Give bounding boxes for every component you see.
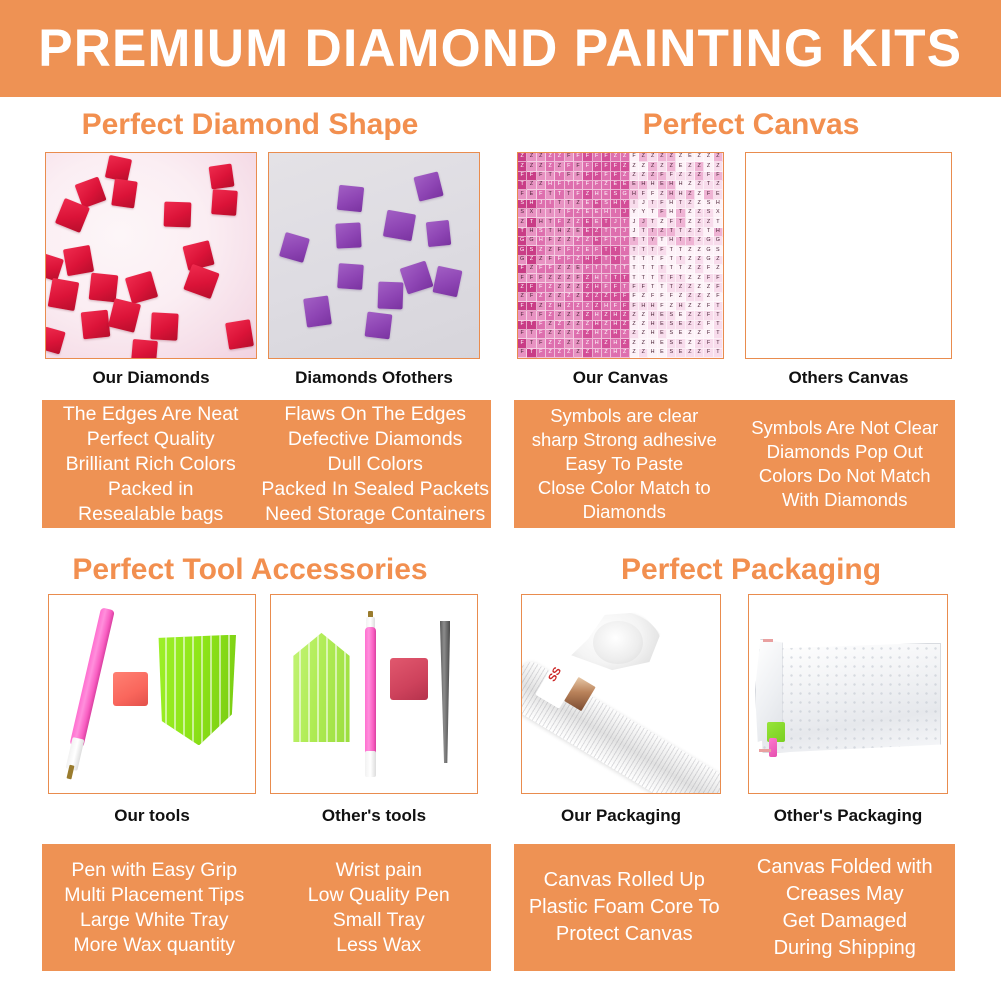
- symbol-cell: F: [630, 283, 639, 292]
- symbol-cell: Z: [583, 321, 592, 330]
- symbol-cell: H: [648, 302, 657, 311]
- symbol-cell: T: [527, 330, 536, 339]
- symbol-cell: Z: [695, 321, 704, 330]
- symbol-cell: J: [611, 218, 620, 227]
- symbol-cell: Z: [537, 256, 546, 265]
- symbol-cell: X: [527, 209, 536, 218]
- symbol-cell: Z: [574, 283, 583, 292]
- symbol-cell: F: [537, 321, 546, 330]
- symbol-cell: Z: [555, 339, 564, 348]
- benefit-line: Multi Placement Tips: [64, 883, 244, 908]
- symbol-cell: Z: [593, 228, 602, 237]
- symbol-cell: T: [611, 256, 620, 265]
- symbol-cell: F: [611, 172, 620, 181]
- benefits-box-canvas: Symbols are clear sharp Strong adhesive …: [514, 400, 955, 528]
- symbol-cell: Z: [714, 162, 723, 171]
- symbol-cell: Z: [546, 153, 555, 162]
- symbol-cell: Z: [639, 349, 648, 358]
- symbol-cell: T: [648, 200, 657, 209]
- symbol-cell: T: [565, 190, 574, 199]
- symbol-cell: H: [648, 330, 657, 339]
- symbol-cell: H: [611, 349, 620, 358]
- caption-our-diamonds: Our Diamonds: [45, 368, 257, 388]
- symbol-cell: E: [583, 200, 592, 209]
- symbol-cell: T: [648, 246, 657, 255]
- mailer-contents-pen: [769, 738, 777, 758]
- benefit-line: Canvas Folded with: [757, 854, 933, 881]
- symbol-cell: H: [611, 311, 620, 320]
- benefit-line: With Diamonds: [782, 488, 907, 512]
- symbol-cell: Z: [695, 190, 704, 199]
- benefits-col-others: Flaws On The Edges Defective Diamonds Du…: [259, 400, 491, 528]
- symbol-cell: E: [658, 311, 667, 320]
- symbol-cell: Z: [686, 172, 695, 181]
- symbol-cell: Z: [555, 265, 564, 274]
- benefits-col-others: Wrist pain Low Quality Pen Small Tray Le…: [267, 844, 492, 971]
- symbol-cell: Z: [537, 181, 546, 190]
- symbol-cell: F: [565, 162, 574, 171]
- symbol-cell: H: [593, 349, 602, 358]
- symbol-cell: I: [546, 200, 555, 209]
- header-banner: PREMIUM DIAMOND PAINTING KITS: [0, 0, 1001, 97]
- symbol-cell: H: [667, 181, 676, 190]
- symbol-cell: S: [667, 321, 676, 330]
- symbol-cell: Z: [630, 311, 639, 320]
- symbol-cell: H: [583, 256, 592, 265]
- symbol-cell: F: [667, 172, 676, 181]
- benefit-line: Symbols are clear: [550, 404, 698, 428]
- symbol-cell: Z: [695, 311, 704, 320]
- symbol-cell: T: [714, 330, 723, 339]
- symbol-cell: Z: [546, 330, 555, 339]
- symbol-cell: Z: [704, 162, 713, 171]
- symbol-cell: F: [518, 172, 527, 181]
- symbol-cell: T: [546, 172, 555, 181]
- symbol-cell: E: [593, 209, 602, 218]
- symbol-cell: H: [676, 181, 685, 190]
- symbol-cell: T: [555, 209, 564, 218]
- symbol-cell: Z: [639, 311, 648, 320]
- page-title: PREMIUM DIAMOND PAINTING KITS: [39, 18, 963, 79]
- symbol-cell: T: [602, 246, 611, 255]
- symbol-cell: Z: [574, 349, 583, 358]
- symbol-cell: F: [704, 349, 713, 358]
- symbol-cell: Z: [565, 311, 574, 320]
- symbol-cell: F: [574, 153, 583, 162]
- symbol-cell: T: [714, 349, 723, 358]
- symbol-cell: T: [648, 265, 657, 274]
- symbol-cell: Z: [555, 293, 564, 302]
- symbol-cell: Z: [686, 265, 695, 274]
- photo-red-diamonds: [46, 153, 256, 358]
- symbol-cell: E: [658, 339, 667, 348]
- symbol-cell: Z: [667, 153, 676, 162]
- symbol-cell: S: [518, 200, 527, 209]
- benefit-line: Symbols Are Not Clear: [751, 416, 938, 440]
- symbol-cell: T: [621, 283, 630, 292]
- symbol-cell: Z: [695, 293, 704, 302]
- symbol-cell: Z: [583, 190, 592, 199]
- symbol-cell: F: [602, 283, 611, 292]
- symbol-cell: H: [593, 311, 602, 320]
- symbol-cell: T: [621, 274, 630, 283]
- symbol-cell: T: [676, 256, 685, 265]
- caption-our-tools: Our tools: [48, 806, 256, 826]
- symbol-cell: Z: [686, 274, 695, 283]
- symbol-grid: ZZZZZFFFFFZZFZZZZZEZZZZZZZZFFFFFFZZZZZZE…: [518, 153, 723, 358]
- symbol-cell: Z: [695, 153, 704, 162]
- symbol-cell: T: [714, 311, 723, 320]
- symbol-cell: H: [639, 302, 648, 311]
- symbol-cell: Z: [574, 339, 583, 348]
- benefit-line: Large White Tray: [80, 908, 228, 933]
- symbol-cell: Z: [611, 153, 620, 162]
- symbol-cell: Z: [555, 283, 564, 292]
- benefit-line: The Edges Are Neat: [63, 402, 239, 427]
- symbol-cell: T: [611, 237, 620, 246]
- symbol-cell: H: [667, 237, 676, 246]
- symbol-cell: Z: [714, 153, 723, 162]
- symbol-cell: Z: [676, 283, 685, 292]
- symbol-cell: T: [667, 228, 676, 237]
- symbol-cell: F: [555, 218, 564, 227]
- symbol-cell: Z: [546, 162, 555, 171]
- symbol-cell: T: [639, 237, 648, 246]
- symbol-cell: S: [537, 228, 546, 237]
- symbol-cell: T: [611, 274, 620, 283]
- symbol-cell: Z: [686, 339, 695, 348]
- symbol-cell: T: [630, 237, 639, 246]
- symbol-cell: Z: [555, 162, 564, 171]
- symbol-cell: H: [630, 190, 639, 199]
- symbol-cell: F: [639, 283, 648, 292]
- symbol-cell: S: [704, 209, 713, 218]
- tray-icon: [156, 635, 238, 746]
- symbol-cell: I: [546, 209, 555, 218]
- panel-our-packaging: SS-011: [521, 594, 721, 794]
- symbol-cell: F: [639, 190, 648, 199]
- symbol-cell: F: [537, 311, 546, 320]
- symbol-cell: Z: [695, 283, 704, 292]
- symbol-cell: F: [583, 265, 592, 274]
- symbol-cell: F: [518, 302, 527, 311]
- symbol-cell: T: [714, 218, 723, 227]
- benefit-line: Diamonds Pop Out: [767, 440, 923, 464]
- symbol-cell: S: [704, 200, 713, 209]
- symbol-cell: Z: [574, 321, 583, 330]
- symbol-cell: Z: [574, 209, 583, 218]
- symbol-cell: E: [583, 218, 592, 227]
- symbol-cell: Z: [695, 162, 704, 171]
- panel-others-canvas: [745, 152, 952, 359]
- symbol-cell: Z: [555, 311, 564, 320]
- symbol-cell: T: [630, 274, 639, 283]
- symbol-cell: T: [621, 218, 630, 227]
- symbol-cell: F: [574, 162, 583, 171]
- symbol-cell: T: [639, 246, 648, 255]
- symbol-cell: Z: [574, 311, 583, 320]
- symbol-cell: F: [565, 256, 574, 265]
- symbol-cell: T: [667, 283, 676, 292]
- symbol-cell: F: [574, 172, 583, 181]
- symbol-cell: H: [714, 228, 723, 237]
- symbol-cell: F: [621, 293, 630, 302]
- symbol-cell: E: [658, 321, 667, 330]
- symbol-cell: Z: [686, 181, 695, 190]
- symbol-cell: S: [667, 339, 676, 348]
- symbol-cell: F: [704, 274, 713, 283]
- symbol-cell: Z: [714, 256, 723, 265]
- symbol-cell: F: [583, 153, 592, 162]
- symbol-cell: Z: [695, 200, 704, 209]
- symbol-cell: F: [611, 283, 620, 292]
- symbol-cell: T: [676, 246, 685, 255]
- symbol-cell: T: [518, 228, 527, 237]
- symbol-cell: T: [611, 228, 620, 237]
- symbol-cell: Y: [648, 237, 657, 246]
- symbol-cell: F: [648, 293, 657, 302]
- symbol-cell: Z: [555, 349, 564, 358]
- symbol-cell: E: [658, 349, 667, 358]
- symbol-cell: Z: [602, 330, 611, 339]
- symbol-cell: T: [621, 265, 630, 274]
- panel-others-packaging: [748, 594, 948, 794]
- symbol-cell: Z: [565, 321, 574, 330]
- symbol-cell: Z: [639, 153, 648, 162]
- symbol-cell: F: [658, 293, 667, 302]
- symbol-cell: F: [658, 246, 667, 255]
- benefit-line: Brilliant Rich Colors: [66, 452, 236, 477]
- symbol-cell: F: [658, 172, 667, 181]
- symbol-cell: G: [518, 256, 527, 265]
- symbol-cell: Z: [695, 209, 704, 218]
- symbol-cell: Z: [695, 181, 704, 190]
- mailer-edge-strip: [759, 749, 771, 752]
- symbol-cell: Z: [565, 339, 574, 348]
- symbol-cell: F: [714, 293, 723, 302]
- symbol-cell: Z: [565, 237, 574, 246]
- symbol-cell: G: [704, 246, 713, 255]
- symbol-cell: F: [527, 274, 536, 283]
- symbol-cell: F: [658, 256, 667, 265]
- section-title-packaging: Perfect Packaging: [501, 553, 1001, 587]
- symbol-cell: E: [630, 181, 639, 190]
- symbol-cell: Z: [704, 153, 713, 162]
- symbol-cell: F: [518, 311, 527, 320]
- symbol-cell: E: [611, 181, 620, 190]
- symbol-cell: S: [714, 246, 723, 255]
- symbol-cell: H: [602, 209, 611, 218]
- symbol-cell: Z: [593, 302, 602, 311]
- symbol-cell: T: [639, 274, 648, 283]
- symbol-cell: E: [574, 228, 583, 237]
- symbol-cell: I: [630, 200, 639, 209]
- symbol-cell: Z: [602, 293, 611, 302]
- symbol-cell: T: [602, 218, 611, 227]
- symbol-cell: T: [648, 274, 657, 283]
- symbol-cell: Z: [667, 302, 676, 311]
- symbol-cell: Z: [695, 265, 704, 274]
- symbol-cell: Z: [621, 330, 630, 339]
- symbol-cell: T: [527, 302, 536, 311]
- symbol-cell: Z: [583, 302, 592, 311]
- symbol-cell: Z: [648, 153, 657, 162]
- caption-our-canvas: Our Canvas: [517, 368, 724, 388]
- symbol-cell: S: [611, 190, 620, 199]
- symbol-cell: F: [537, 274, 546, 283]
- symbol-cell: Z: [574, 246, 583, 255]
- symbol-cell: Z: [695, 339, 704, 348]
- symbol-cell: T: [704, 181, 713, 190]
- symbol-cell: T: [621, 256, 630, 265]
- symbol-cell: Y: [639, 209, 648, 218]
- symbol-cell: Z: [639, 330, 648, 339]
- symbol-cell: T: [676, 265, 685, 274]
- symbol-cell: T: [714, 321, 723, 330]
- symbol-cell: E: [676, 339, 685, 348]
- symbol-cell: Z: [621, 172, 630, 181]
- symbol-cell: Z: [639, 172, 648, 181]
- symbol-cell: I: [611, 209, 620, 218]
- symbol-cell: Z: [602, 349, 611, 358]
- symbol-cell: Z: [518, 218, 527, 227]
- symbol-cell: T: [602, 256, 611, 265]
- symbol-cell: Z: [686, 349, 695, 358]
- symbol-cell: T: [518, 181, 527, 190]
- symbol-cell: F: [658, 209, 667, 218]
- benefit-line: Need Storage Containers: [265, 502, 485, 527]
- symbol-cell: F: [602, 153, 611, 162]
- symbol-cell: Z: [565, 228, 574, 237]
- photo-our-tools: [49, 595, 255, 793]
- symbol-cell: G: [704, 256, 713, 265]
- panel-others-tools: [270, 594, 478, 794]
- symbol-cell: Z: [686, 256, 695, 265]
- symbol-cell: Z: [546, 339, 555, 348]
- tweezers-icon: [440, 621, 450, 764]
- symbol-cell: Z: [574, 237, 583, 246]
- tray-ribs: [290, 631, 354, 746]
- symbol-cell: Z: [686, 218, 695, 227]
- symbol-cell: F: [546, 237, 555, 246]
- symbol-cell: H: [593, 321, 602, 330]
- symbol-cell: F: [537, 265, 546, 274]
- symbol-cell: Z: [565, 302, 574, 311]
- benefit-line: sharp Strong adhesive: [532, 428, 717, 452]
- symbol-cell: F: [583, 181, 592, 190]
- symbol-cell: Z: [714, 265, 723, 274]
- symbol-cell: Z: [695, 349, 704, 358]
- symbol-cell: Z: [630, 349, 639, 358]
- symbol-cell: Z: [686, 209, 695, 218]
- symbol-cell: H: [593, 339, 602, 348]
- symbol-cell: H: [593, 274, 602, 283]
- benefit-line: Get Damaged: [782, 908, 907, 935]
- symbol-cell: J: [630, 228, 639, 237]
- tube-label-code: SS-011: [546, 665, 575, 684]
- symbol-cell: Z: [621, 349, 630, 358]
- benefit-line: Pen with Easy Grip: [71, 858, 237, 883]
- symbol-cell: H: [593, 330, 602, 339]
- symbol-cell: E: [621, 181, 630, 190]
- symbol-cell: E: [714, 190, 723, 199]
- symbol-cell: F: [593, 256, 602, 265]
- symbol-cell: F: [630, 302, 639, 311]
- symbol-cell: T: [593, 265, 602, 274]
- symbol-cell: H: [667, 209, 676, 218]
- benefit-line: Small Tray: [333, 908, 425, 933]
- symbol-cell: Z: [630, 321, 639, 330]
- symbol-cell: F: [537, 283, 546, 292]
- symbol-cell: F: [602, 172, 611, 181]
- symbol-cell: S: [518, 209, 527, 218]
- symbol-cell: F: [704, 172, 713, 181]
- symbol-cell: Z: [574, 200, 583, 209]
- symbol-cell: H: [611, 330, 620, 339]
- symbol-cell: Z: [695, 274, 704, 283]
- symbol-cell: F: [667, 218, 676, 227]
- symbol-cell: Z: [546, 283, 555, 292]
- symbol-cell: F: [527, 293, 536, 302]
- photo-pink-symbol-canvas: ZZZZZFFFFFZZFZZZZZEZZZZZZZZFFFFFFZZZZZZE…: [518, 153, 723, 358]
- panel-our-diamonds: [45, 152, 257, 359]
- caption-others-canvas: Others Canvas: [745, 368, 952, 388]
- symbol-cell: T: [676, 200, 685, 209]
- symbol-cell: H: [593, 283, 602, 292]
- symbol-cell: E: [676, 349, 685, 358]
- symbol-cell: Z: [686, 321, 695, 330]
- symbol-cell: F: [593, 162, 602, 171]
- symbol-cell: Z: [537, 162, 546, 171]
- symbol-cell: F: [518, 265, 527, 274]
- pen-body-icon: [365, 627, 376, 758]
- symbol-cell: E: [583, 228, 592, 237]
- symbol-cell: T: [714, 302, 723, 311]
- symbol-cell: F: [704, 321, 713, 330]
- symbol-cell: H: [546, 181, 555, 190]
- symbol-cell: Z: [546, 302, 555, 311]
- symbol-cell: J: [630, 218, 639, 227]
- symbol-cell: Z: [583, 274, 592, 283]
- symbol-cell: Z: [537, 302, 546, 311]
- symbol-cell: Z: [621, 321, 630, 330]
- symbol-cell: G: [518, 237, 527, 246]
- symbol-cell: T: [555, 172, 564, 181]
- symbol-cell: F: [555, 246, 564, 255]
- symbol-cell: Z: [695, 237, 704, 246]
- symbol-cell: Z: [667, 162, 676, 171]
- symbol-cell: Z: [583, 283, 592, 292]
- symbol-cell: H: [648, 339, 657, 348]
- symbol-cell: Y: [630, 209, 639, 218]
- symbol-cell: S: [667, 349, 676, 358]
- symbol-cell: E: [676, 321, 685, 330]
- pen-body-icon: [69, 607, 115, 747]
- symbol-cell: H: [611, 200, 620, 209]
- photo-purple-diamonds: [269, 153, 479, 358]
- symbol-cell: J: [639, 200, 648, 209]
- symbol-cell: F: [565, 153, 574, 162]
- mailer-edge-strip: [763, 639, 773, 642]
- symbol-cell: T: [621, 237, 630, 246]
- benefits-col-ours: Symbols are clear sharp Strong adhesive …: [514, 400, 735, 528]
- symbol-cell: Z: [686, 311, 695, 320]
- symbol-cell: T: [527, 218, 536, 227]
- symbol-cell: T: [667, 246, 676, 255]
- symbol-cell: F: [621, 302, 630, 311]
- symbol-cell: T: [546, 190, 555, 199]
- benefits-col-ours: Pen with Easy Grip Multi Placement Tips …: [42, 844, 267, 971]
